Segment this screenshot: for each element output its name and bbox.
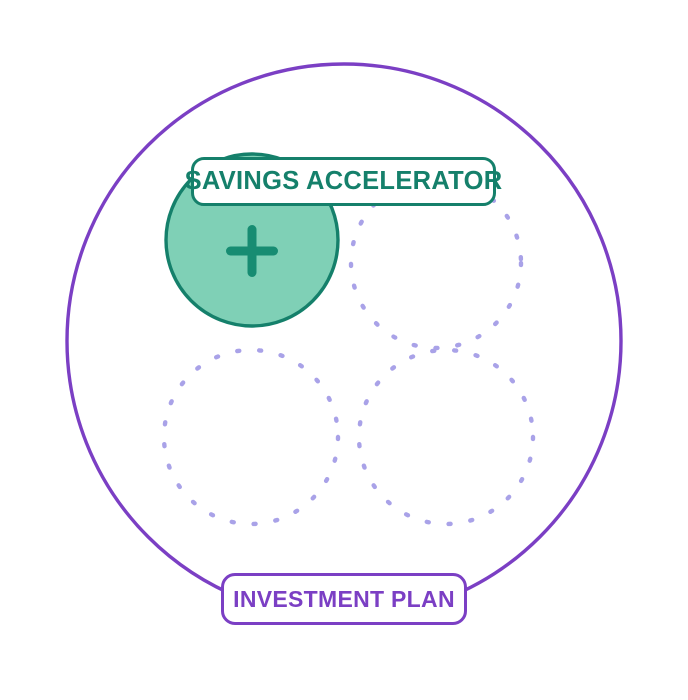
empty-slot-bottom-left[interactable]	[164, 350, 338, 524]
investment-plan-label: INVESTMENT PLAN	[233, 586, 455, 613]
investment-plan-label-pill[interactable]: INVESTMENT PLAN	[221, 573, 467, 625]
empty-slot-bottom-right[interactable]	[359, 350, 533, 524]
outer-ring-circle	[67, 64, 621, 618]
savings-accelerator-label: SAVINGS ACCELERATOR	[185, 167, 503, 196]
diagram-canvas: SAVINGS ACCELERATOR INVESTMENT PLAN	[0, 0, 688, 700]
savings-accelerator-label-pill[interactable]: SAVINGS ACCELERATOR	[191, 157, 496, 206]
